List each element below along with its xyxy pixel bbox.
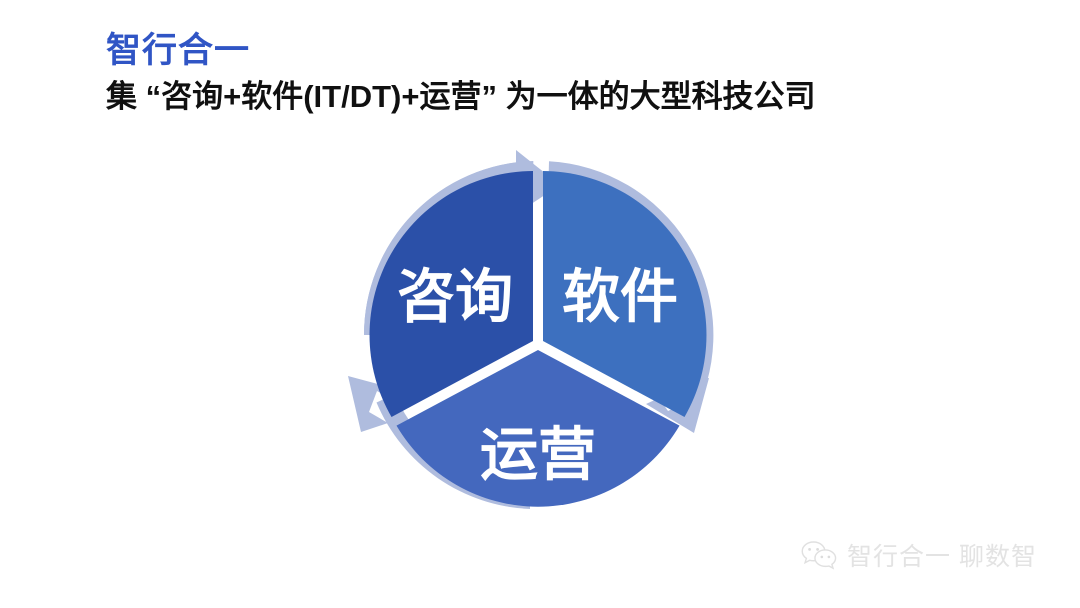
wechat-icon	[800, 539, 838, 571]
cycle-diagram-svg: 咨询 软件 运营	[330, 142, 750, 542]
cycle-diagram: 咨询 软件 运营	[330, 142, 750, 542]
segment-label-software: 软件	[562, 265, 678, 330]
page-title: 智行合一	[106, 32, 1026, 71]
slide-canvas: 智行合一 集 “咨询+软件(IT/DT)+运营” 为一体的大型科技公司	[0, 0, 1080, 608]
segment-label-operations: 运营	[480, 423, 596, 488]
segment-label-consulting: 咨询	[397, 265, 513, 330]
page-subtitle: 集 “咨询+软件(IT/DT)+运营” 为一体的大型科技公司	[106, 79, 1026, 115]
watermark-text: 智行合一 聊数智	[847, 537, 1037, 573]
header-block: 智行合一 集 “咨询+软件(IT/DT)+运营” 为一体的大型科技公司	[106, 32, 1026, 114]
watermark: 智行合一 聊数智	[800, 537, 1037, 573]
